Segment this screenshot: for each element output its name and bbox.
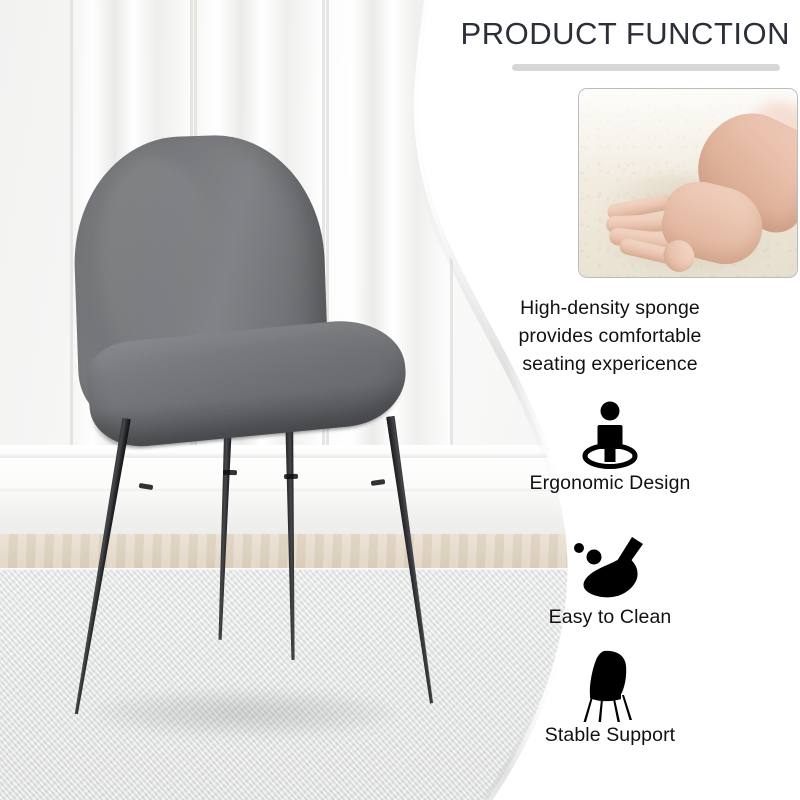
chair-leg-joint <box>284 474 298 479</box>
chair-leg-back-right <box>283 408 299 660</box>
chair-leg-joint <box>371 479 386 486</box>
broom-glyph <box>570 535 650 601</box>
broom-icon <box>430 532 790 604</box>
feature-label-easy-to-clean: Easy to Clean <box>430 606 790 629</box>
chair-leg-joint <box>223 470 237 475</box>
chair-icon <box>430 650 790 722</box>
sponge-caption-line-1: High-density sponge <box>430 294 790 322</box>
sponge-caption-line-3: seating expericence <box>430 350 790 378</box>
feature-easy-to-clean: Easy to Clean <box>430 532 790 629</box>
feature-stable-support: Stable Support <box>430 650 790 747</box>
person-on-platform-glyph <box>575 398 645 470</box>
sponge-caption-line-2: provides comfortable <box>430 322 790 350</box>
sponge-caption: High-density sponge provides comfortable… <box>430 294 790 378</box>
feature-ergonomic-design: Ergonomic Design <box>430 398 790 495</box>
feature-panel: PRODUCT FUNCTION High-density sponge pro… <box>430 0 800 800</box>
feature-label-stable-support: Stable Support <box>430 724 790 747</box>
feature-label-ergonomic-design: Ergonomic Design <box>430 472 790 495</box>
person-on-platform-icon <box>430 398 790 470</box>
chair-glyph <box>580 648 640 724</box>
chair-shadow <box>95 690 395 736</box>
title-underline <box>512 64 780 71</box>
product-infographic: PRODUCT FUNCTION High-density sponge pro… <box>0 0 800 800</box>
page-title: PRODUCT FUNCTION <box>430 16 790 52</box>
chair-leg-front-left <box>69 417 131 715</box>
chair-leg-joint <box>139 483 154 490</box>
sponge-photo <box>578 88 798 278</box>
